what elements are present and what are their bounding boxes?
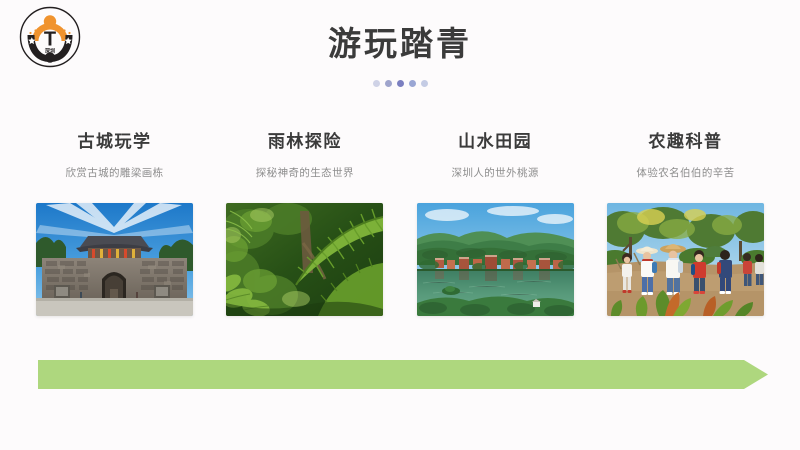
card-subtitle: 探秘神奇的生态世界 — [256, 165, 354, 181]
dot-indicator-2[interactable] — [385, 80, 392, 87]
card-subtitle: 体验农名伯伯的辛苦 — [636, 165, 734, 181]
card-title: 山水田园 — [458, 130, 532, 154]
lakeside-village-photo[interactable] — [417, 203, 574, 316]
dot-indicator-4[interactable] — [409, 80, 416, 87]
green-arrow-bar — [38, 360, 768, 389]
title-block: 游玩踏青 — [0, 22, 800, 87]
slide-canvas: T 深圳 游玩踏青 古城玩学 欣赏古城的雕梁画栋 — [0, 0, 800, 450]
card-ancient-city[interactable]: 古城玩学 欣赏古城的雕梁画栋 — [36, 130, 193, 316]
ancient-city-gate-photo[interactable] — [36, 203, 193, 316]
card-farm-children[interactable]: 农趣科普 体验农名伯伯的辛苦 — [607, 130, 764, 316]
card-row: 古城玩学 欣赏古城的雕梁画栋 — [36, 130, 764, 316]
card-lakeside-village[interactable]: 山水田园 深圳人的世外桃源 — [417, 130, 574, 316]
card-title: 古城玩学 — [78, 130, 152, 154]
slide-dot-indicators[interactable] — [0, 80, 800, 87]
card-subtitle: 深圳人的世外桃源 — [452, 165, 539, 181]
dot-indicator-5[interactable] — [421, 80, 428, 87]
dot-indicator-1[interactable] — [373, 80, 380, 87]
card-subtitle: 欣赏古城的雕梁画栋 — [65, 165, 163, 181]
card-title: 农趣科普 — [648, 130, 722, 154]
farm-children-photo[interactable] — [607, 203, 764, 316]
card-rainforest[interactable]: 雨林探险 探秘神奇的生态世界 — [226, 130, 383, 316]
card-title: 雨林探险 — [268, 130, 342, 154]
dot-indicator-3[interactable] — [397, 80, 404, 87]
rainforest-photo[interactable] — [226, 203, 383, 316]
page-title: 游玩踏青 — [0, 22, 800, 66]
